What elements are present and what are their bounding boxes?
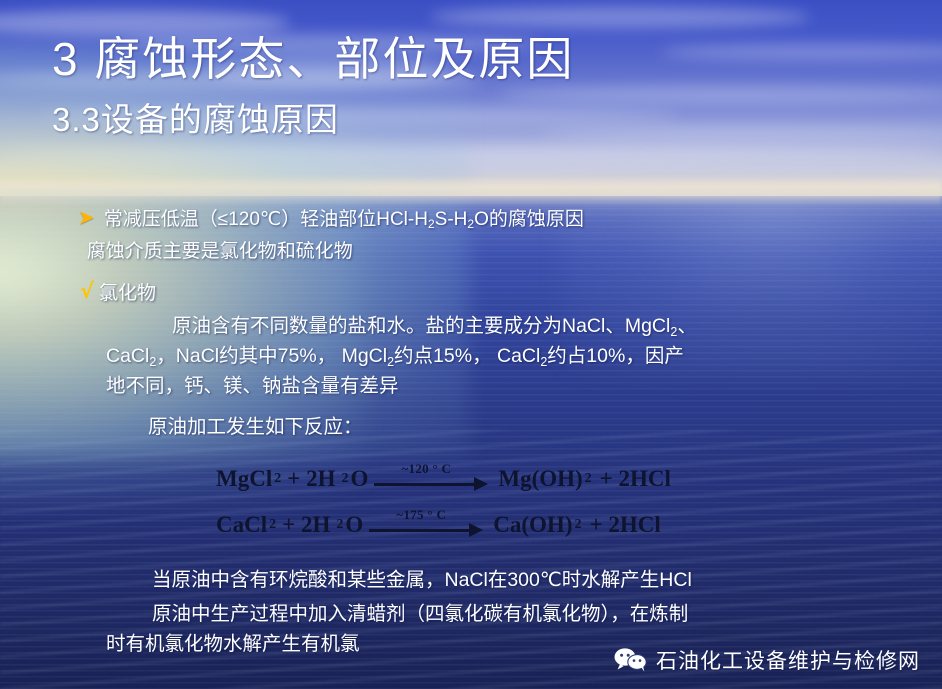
subscript: 2 bbox=[267, 517, 278, 533]
para-text-part: CaCl bbox=[106, 345, 149, 367]
footnote-line-3: 时有机氯化物水解产生有机氯 bbox=[106, 629, 360, 659]
slide-canvas: 3 腐蚀形态、部位及原因 3.3设备的腐蚀原因 ➤ 常减压低温（≤120℃）轻油… bbox=[0, 0, 942, 689]
slide-content: 3 腐蚀形态、部位及原因 3.3设备的腐蚀原因 ➤ 常减压低温（≤120℃）轻油… bbox=[0, 0, 942, 689]
chemical-equation-2: CaCl2 + 2H2O ~175 ° C Ca(OH)2 + 2HCl bbox=[216, 512, 661, 538]
slide-subtitle: 3.3设备的腐蚀原因 bbox=[52, 103, 339, 136]
paragraph-line-3: 地不同，钙、镁、钠盐含量有差异 bbox=[106, 371, 399, 401]
eq-reactant: O bbox=[350, 466, 368, 492]
reaction-arrow: ~175 ° C bbox=[369, 514, 487, 536]
check-bullet-icon: √ bbox=[80, 280, 94, 302]
eq-reactant: CaCl bbox=[216, 512, 267, 538]
eq-product: Ca(OH) bbox=[493, 512, 572, 538]
eq-operator: + 2HCl bbox=[594, 466, 671, 492]
para-text-part: 约占10%，因产 bbox=[547, 345, 684, 367]
reaction-condition: ~120 ° C bbox=[374, 461, 478, 477]
watermark-text: 石油化工设备维护与检修网 bbox=[656, 645, 920, 675]
arrow-bullet-icon: ➤ bbox=[78, 206, 95, 228]
reaction-arrow: ~120 ° C bbox=[374, 468, 492, 490]
arrow-line bbox=[369, 529, 473, 532]
arrow-head bbox=[469, 523, 483, 537]
subscript: 2 bbox=[387, 355, 394, 369]
para-text-part: 原油含有不同数量的盐和水。盐的主要成分为NaCl、MgCl bbox=[172, 315, 670, 337]
para-text-part: 、 bbox=[677, 315, 697, 337]
paragraph-reaction-intro: 原油加工发生如下反应： bbox=[148, 412, 363, 442]
bullet-line: 常减压低温（≤120℃）轻油部位HCl-H2S-H2O的腐蚀原因 bbox=[104, 206, 584, 238]
eq-operator: + 2H bbox=[283, 466, 339, 492]
watermark: 石油化工设备维护与检修网 bbox=[614, 645, 920, 675]
bullet-text-part: O的腐蚀原因 bbox=[474, 209, 584, 230]
eq-reactant: O bbox=[345, 512, 363, 538]
bullet-line: 腐蚀介质主要是氯化物和硫化物 bbox=[87, 238, 584, 265]
para-text-part: ，NaCl约其中75%， MgCl bbox=[156, 345, 387, 367]
subscript: 2 bbox=[272, 471, 283, 487]
eq-operator: + 2HCl bbox=[583, 512, 660, 538]
eq-product: Mg(OH) bbox=[498, 466, 582, 492]
eq-operator: + 2H bbox=[278, 512, 334, 538]
slide-title: 3 腐蚀形态、部位及原因 bbox=[52, 36, 574, 82]
bullet-item-2: √ 氯化物 bbox=[80, 280, 156, 307]
reaction-condition: ~175 ° C bbox=[369, 507, 473, 523]
bullet-item-2-label: 氯化物 bbox=[99, 280, 156, 307]
chemical-equation-1: MgCl2 + 2H2O ~120 ° C Mg(OH)2 + 2HCl bbox=[216, 466, 671, 492]
subscript: 2 bbox=[334, 517, 345, 533]
eq-reactant: MgCl bbox=[216, 466, 272, 492]
footnote-line-2: 原油中生产过程中加入清蜡剂（四氯化碳有机氯化物），在炼制 bbox=[152, 599, 688, 629]
wechat-icon bbox=[614, 647, 648, 673]
footnote-line-1: 当原油中含有环烷酸和某些金属，NaCl在300℃时水解产生HCl bbox=[152, 565, 692, 595]
arrow-line bbox=[374, 483, 478, 486]
arrow-head bbox=[474, 477, 488, 491]
subscript: 2 bbox=[428, 217, 435, 231]
subscript: 2 bbox=[339, 471, 350, 487]
bullet-item-1: ➤ 常减压低温（≤120℃）轻油部位HCl-H2S-H2O的腐蚀原因 腐蚀介质主… bbox=[78, 206, 584, 265]
subscript: 2 bbox=[583, 471, 594, 487]
para-text-part: 约点15%， CaCl bbox=[394, 345, 540, 367]
bullet-item-1-text: 常减压低温（≤120℃）轻油部位HCl-H2S-H2O的腐蚀原因 腐蚀介质主要是… bbox=[104, 206, 584, 265]
bullet-text-part: 常减压低温（≤120℃）轻油部位HCl-H bbox=[104, 209, 428, 230]
bullet-text-part: S-H bbox=[435, 209, 468, 230]
subscript: 2 bbox=[572, 517, 583, 533]
